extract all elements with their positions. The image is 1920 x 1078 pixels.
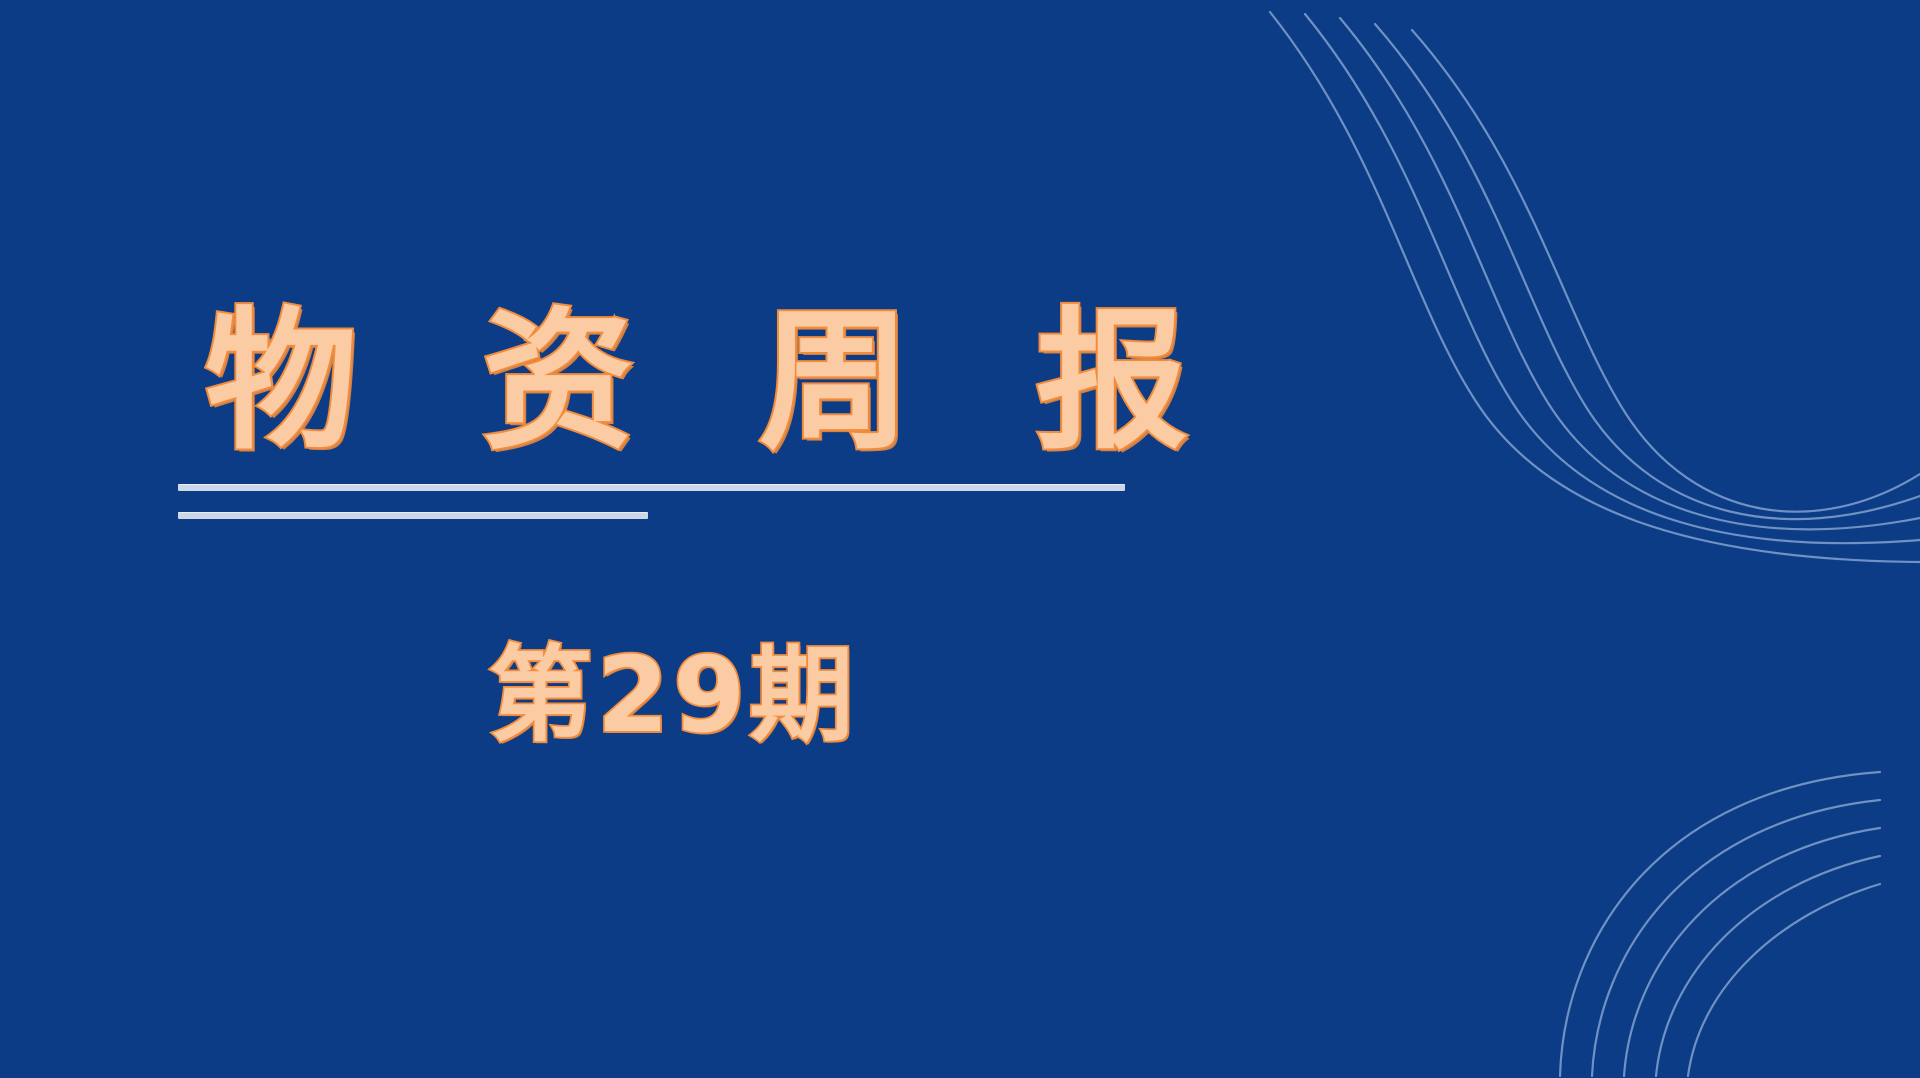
page-subtitle: 第29期 (178, 636, 1168, 756)
arc-line-5 (1688, 884, 1880, 1076)
title-underline-group (178, 484, 1178, 519)
swoosh-line-4 (1375, 24, 1920, 519)
title-block: 物 资 周 报 (178, 300, 1178, 519)
swoosh-lines-top-right-svg (1260, 0, 1920, 580)
arc-line-4 (1656, 856, 1880, 1076)
title-underline-long (178, 484, 1125, 491)
arc-line-3 (1624, 828, 1880, 1076)
swoosh-line-5 (1412, 30, 1920, 512)
arc-lines-bottom-right-icon (1520, 728, 1920, 1078)
arc-line-1 (1560, 772, 1880, 1076)
swoosh-line-3 (1340, 18, 1920, 529)
title-underline-short (178, 512, 648, 519)
arc-lines-bottom-right-svg (1520, 728, 1920, 1078)
title-slide: 物 资 周 报 第29期 (0, 0, 1920, 1078)
page-title: 物 资 周 报 (178, 300, 1178, 464)
arc-line-2 (1592, 800, 1880, 1076)
swoosh-line-1 (1270, 12, 1920, 562)
swoosh-line-2 (1305, 14, 1920, 543)
swoosh-lines-top-right-icon (1260, 0, 1920, 580)
